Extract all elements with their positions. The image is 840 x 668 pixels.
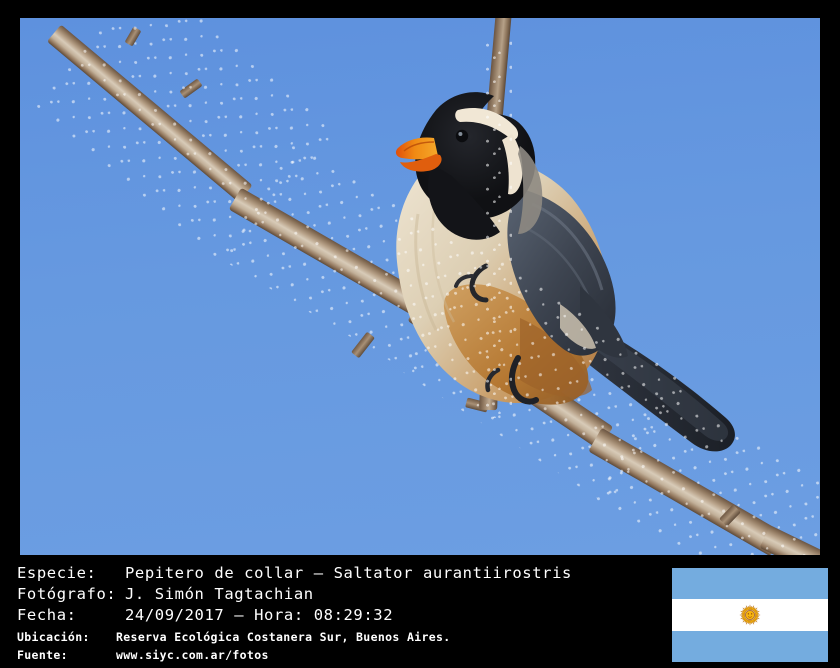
value-fecha: 24/09/2017 — Hora: 08:29:32 bbox=[125, 606, 393, 624]
flag-band-top bbox=[672, 568, 828, 599]
label-especie: Especie: bbox=[17, 564, 125, 582]
caption-row-ubicacion: Ubicación:Reserva Ecológica Costanera Su… bbox=[17, 630, 451, 644]
argentina-flag-icon bbox=[672, 568, 828, 662]
value-especie: Pepitero de collar — Saltator aurantiiro… bbox=[125, 564, 572, 582]
sun-of-may-icon bbox=[739, 604, 761, 626]
bird-illustration bbox=[20, 18, 820, 555]
caption-row-fotografo: Fotógrafo:J. Simón Tagtachian bbox=[17, 585, 314, 603]
flag-band-bottom bbox=[672, 631, 828, 662]
caption-row-fuente: Fuente:www.siyc.com.ar/fotos bbox=[17, 648, 269, 662]
value-fuente[interactable]: www.siyc.com.ar/fotos bbox=[116, 648, 269, 662]
label-fotografo: Fotógrafo: bbox=[17, 585, 125, 603]
label-ubicacion: Ubicación: bbox=[17, 630, 116, 644]
flag-band-middle bbox=[672, 599, 828, 630]
label-fecha: Fecha: bbox=[17, 606, 125, 624]
caption-row-especie: Especie:Pepitero de collar — Saltator au… bbox=[17, 564, 572, 582]
value-fotografo: J. Simón Tagtachian bbox=[125, 585, 314, 603]
label-fuente: Fuente: bbox=[17, 648, 116, 662]
photo-card: Especie:Pepitero de collar — Saltator au… bbox=[0, 0, 840, 668]
bird-photograph bbox=[20, 18, 820, 555]
value-ubicacion: Reserva Ecológica Costanera Sur, Buenos … bbox=[116, 630, 451, 644]
caption-row-fecha: Fecha:24/09/2017 — Hora: 08:29:32 bbox=[17, 606, 393, 624]
